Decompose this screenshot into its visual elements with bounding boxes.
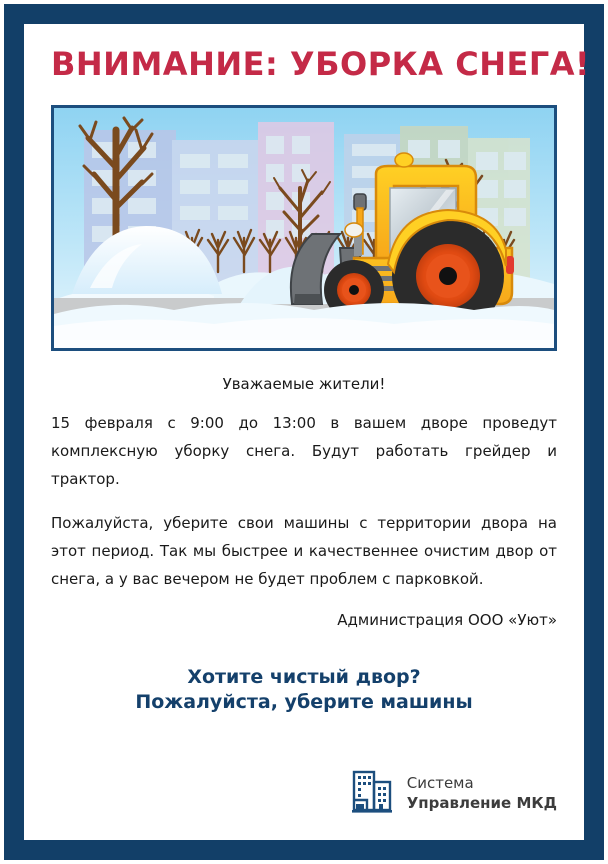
- brand-logo: Система Управление МКД: [349, 768, 557, 818]
- brand-line-1: Система: [407, 773, 557, 793]
- paragraph-request: Пожалуйста, уберите свои машины с террит…: [51, 509, 557, 593]
- brand-name: Система Управление МКД: [407, 773, 557, 813]
- poster: ВНИМАНИЕ: УБОРКА СНЕГА!: [0, 0, 608, 864]
- signature-text: Администрация ООО «Уют»: [51, 611, 557, 629]
- building-icon: [349, 768, 395, 818]
- cta-line-2: Пожалуйста, уберите машины: [51, 690, 557, 715]
- greeting-text: Уважаемые жители!: [51, 375, 557, 393]
- poster-content: ВНИМАНИЕ: УБОРКА СНЕГА!: [24, 24, 584, 840]
- illustration-snow-plow-tractor: [51, 105, 557, 351]
- call-to-action: Хотите чистый двор? Пожалуйста, уберите …: [51, 665, 557, 715]
- cta-line-1: Хотите чистый двор?: [51, 665, 557, 690]
- page-title: ВНИМАНИЕ: УБОРКА СНЕГА!: [51, 24, 557, 83]
- paragraph-schedule: 15 февраля с 9:00 до 13:00 в вашем дворе…: [51, 409, 557, 493]
- poster-border-frame: ВНИМАНИЕ: УБОРКА СНЕГА!: [4, 4, 604, 860]
- illustration-graphic: [54, 108, 554, 348]
- brand-line-2: Управление МКД: [407, 793, 557, 813]
